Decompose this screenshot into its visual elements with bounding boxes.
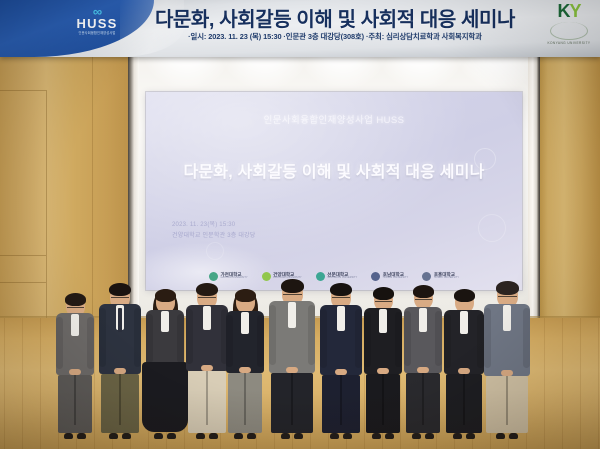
left-wood-wall	[0, 50, 136, 320]
leg-gap	[206, 371, 208, 425]
legs	[322, 375, 360, 433]
shirt	[419, 308, 427, 332]
slide-meta: 2023. 11. 23(목) 15:30 건양대학교 인문학관 3층 대강당	[172, 220, 256, 241]
partner-logo-sub: HONAM UNIVERSITY	[383, 277, 409, 279]
glasses-icon	[283, 294, 302, 298]
glasses-icon	[375, 301, 392, 305]
shoe	[154, 433, 163, 439]
shoe	[372, 433, 381, 439]
arm	[484, 308, 491, 368]
hair	[65, 293, 86, 306]
partner-logo: 호남대학교HONAM UNIVERSITY	[371, 272, 408, 281]
partner-logo-mark-icon	[262, 272, 271, 281]
shoe	[247, 433, 256, 439]
glasses-icon	[498, 296, 517, 300]
person-5	[222, 291, 268, 444]
legs	[58, 375, 92, 433]
shoe	[453, 433, 462, 439]
hair	[373, 287, 394, 300]
arm	[444, 314, 451, 368]
arm	[186, 309, 193, 364]
shirt	[503, 305, 511, 331]
konyang-k: K	[557, 1, 569, 21]
shirt	[288, 302, 296, 328]
partner-logo-sub: SUN MOON UNIVERSITY	[327, 277, 357, 279]
shoe	[425, 433, 434, 439]
arm	[56, 317, 63, 369]
partner-logo-mark-icon	[422, 272, 431, 281]
event-banner: ∞ HUSS 인문사회융합인재양성사업 다문화, 사회갈등 이해 및 사회적 대…	[0, 0, 600, 57]
shirt	[71, 314, 79, 336]
hair	[454, 289, 475, 302]
floor-plank	[544, 318, 545, 449]
arm	[269, 305, 276, 365]
floor-plank	[22, 318, 23, 449]
huss-logo: ∞ HUSS 인문사회융합인재양성사업	[58, 6, 136, 36]
slide-title: 다문화, 사회갈등 이해 및 사회적 대응 세미나	[146, 158, 522, 182]
arm	[320, 309, 327, 368]
arm	[308, 305, 315, 365]
arm	[146, 314, 153, 363]
partner-logo-name: 선문대학교SUN MOON UNIVERSITY	[327, 273, 357, 280]
legs	[188, 371, 226, 433]
person-2	[95, 285, 145, 444]
partner-logo-name: 호홍대학교HOSEO UNIVERSITY	[434, 273, 459, 280]
shoe	[330, 433, 339, 439]
arm	[257, 315, 264, 367]
hair	[281, 279, 304, 293]
legs	[486, 376, 528, 433]
leg-gap	[291, 373, 293, 425]
glasses-icon	[111, 297, 129, 301]
shoe	[234, 433, 243, 439]
banner-title: 다문화, 사회갈등 이해 및 사회적 대응 세미나	[132, 3, 538, 32]
glasses-icon	[198, 297, 216, 301]
necktie	[118, 308, 122, 332]
hair	[196, 283, 218, 296]
partner-logo-sub: HOSEO UNIVERSITY	[434, 277, 459, 279]
shirt	[203, 306, 211, 330]
partner-logo-mark-icon	[371, 272, 380, 281]
shoe	[343, 433, 352, 439]
hair	[109, 283, 131, 296]
konyang-y: Y	[569, 1, 580, 21]
partner-logo-mark-icon	[316, 272, 325, 281]
shoe	[77, 433, 86, 439]
leg-gap	[74, 375, 76, 425]
huss-logo-tagline: 인문사회융합인재양성사업	[58, 31, 136, 36]
slide-partner-logos: 가천대학교GACHON UNIVERSITY건양대학교KONYANG UNIVE…	[146, 268, 522, 284]
floor-plank	[580, 318, 581, 449]
hair	[496, 281, 519, 295]
huss-logo-name: HUSS	[58, 17, 136, 31]
leg-gap	[340, 375, 342, 425]
shoe	[109, 433, 118, 439]
hair	[330, 283, 352, 296]
arm	[404, 311, 411, 366]
shoe	[167, 433, 176, 439]
konyang-logo-name: KONYANG UNIVERSITY	[542, 41, 596, 45]
konyang-logo-mark: KY	[542, 2, 596, 21]
right-pillar	[528, 48, 540, 320]
shoe	[509, 433, 518, 439]
shoe	[385, 433, 394, 439]
partner-logo: 가천대학교GACHON UNIVERSITY	[209, 272, 248, 281]
partner-logo-sub: GACHON UNIVERSITY	[220, 277, 247, 279]
projection-screen: 인문사회융합인재양성사업 HUSS 다문화, 사회갈등 이해 및 사회적 대응 …	[146, 92, 522, 290]
legs	[271, 373, 313, 433]
legs	[228, 373, 262, 433]
shirt	[241, 312, 249, 334]
leg-gap	[506, 376, 508, 425]
arm	[87, 317, 94, 369]
shoe	[209, 433, 218, 439]
watermark-icon	[206, 242, 224, 260]
leg-gap	[382, 374, 384, 425]
floor-plank	[40, 318, 41, 449]
floor-plank	[598, 318, 599, 449]
hair	[235, 289, 256, 302]
arm	[226, 315, 233, 367]
legs	[406, 373, 440, 433]
shirt	[379, 309, 387, 333]
arm	[364, 312, 371, 367]
shoe	[281, 433, 290, 439]
partner-logo-name: 건양대학교KONYANG UNIVERSITY	[273, 273, 302, 280]
shoe	[122, 433, 131, 439]
watermark-icon	[478, 214, 506, 242]
partner-logo-name: 가천대학교GACHON UNIVERSITY	[220, 273, 247, 280]
partner-logo: 호홍대학교HOSEO UNIVERSITY	[422, 272, 459, 281]
legs	[101, 374, 139, 433]
shirt	[460, 311, 468, 334]
arm	[134, 308, 141, 367]
left-pillar	[128, 48, 139, 320]
hair	[413, 285, 434, 298]
person-11	[480, 283, 534, 444]
shoe	[466, 433, 475, 439]
legs	[446, 374, 482, 433]
banner-subtitle: ·일시: 2023. 11. 23 (목) 15:30 ·인문관 3층 대강당(…	[132, 31, 538, 42]
hair	[155, 289, 176, 302]
floor-plank	[562, 318, 563, 449]
shoe	[294, 433, 303, 439]
shoe	[64, 433, 73, 439]
shoe	[412, 433, 421, 439]
partner-logo-mark-icon	[209, 272, 218, 281]
right-wood-wall	[538, 50, 600, 318]
leg-gap	[422, 373, 424, 425]
arm	[99, 308, 106, 367]
slide-meta-location: 건양대학교 인문학관 3층 대강당	[172, 231, 256, 242]
shoe	[496, 433, 505, 439]
partner-logo: 선문대학교SUN MOON UNIVERSITY	[316, 272, 358, 281]
shirt	[337, 306, 345, 331]
slide-kicker: 인문사회융합인재양성사업 HUSS	[146, 112, 522, 126]
person-6	[265, 281, 319, 444]
konyang-logo: KY KONYANG UNIVERSITY	[542, 2, 596, 48]
partner-logo-name: 호남대학교HONAM UNIVERSITY	[383, 273, 409, 280]
legs	[366, 374, 400, 433]
glasses-icon	[67, 307, 84, 311]
glasses-icon	[415, 299, 432, 303]
arm	[523, 308, 530, 368]
shirt	[161, 311, 169, 332]
leg-gap	[244, 373, 246, 425]
leg-gap	[119, 374, 121, 425]
leg-gap	[463, 374, 465, 425]
glasses-icon	[332, 297, 350, 301]
konyang-ring-icon	[550, 22, 588, 40]
floor-plank	[4, 318, 5, 449]
person-1	[52, 295, 98, 444]
slide-meta-datetime: 2023. 11. 23(목) 15:30	[172, 220, 256, 231]
seminar-group-photo: 인문사회융합인재양성사업 HUSS 다문화, 사회갈등 이해 및 사회적 대응 …	[0, 0, 600, 449]
shoe	[196, 433, 205, 439]
person-7	[316, 285, 366, 444]
